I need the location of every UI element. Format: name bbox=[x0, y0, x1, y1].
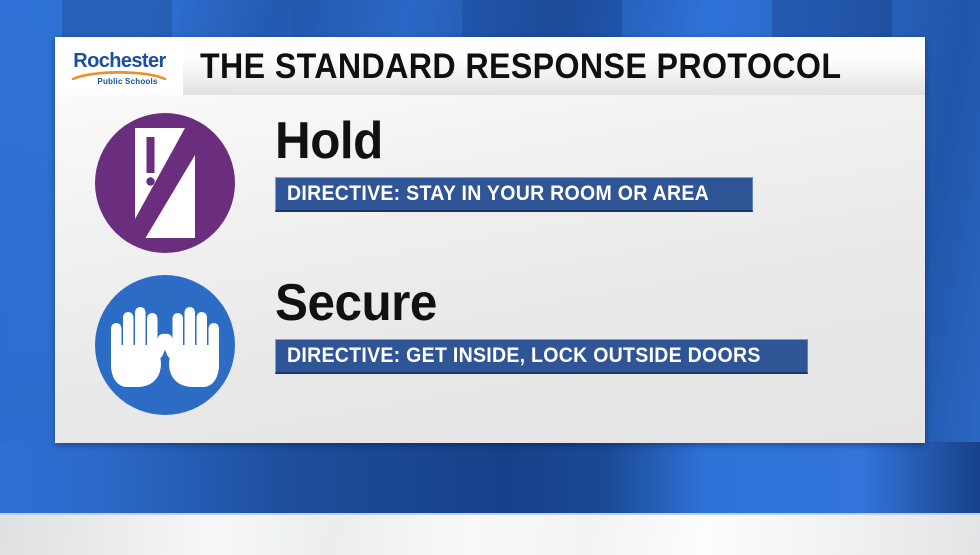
protocol-text-cell: Hold DIRECTIVE: STAY IN YOUR ROOM OR ARE… bbox=[275, 105, 753, 212]
directive-banner-secure: DIRECTIVE: GET INSIDE, LOCK OUTSIDE DOOR… bbox=[275, 339, 808, 374]
page-title: THE STANDARD RESPONSE PROTOCOL bbox=[200, 49, 841, 84]
protocol-icon-cell bbox=[55, 105, 275, 255]
header-title-container: THE STANDARD RESPONSE PROTOCOL bbox=[183, 37, 925, 95]
rochester-public-schools-logo: Rochester Public Schools bbox=[55, 37, 183, 95]
protocol-icon-cell bbox=[55, 267, 275, 417]
hold-door-exclamation-icon bbox=[93, 111, 237, 255]
background-bottom-light-strip bbox=[0, 513, 980, 555]
protocol-name-secure: Secure bbox=[275, 277, 782, 329]
panel-body: Hold DIRECTIVE: STAY IN YOUR ROOM OR ARE… bbox=[55, 95, 925, 443]
directive-banner-hold: DIRECTIVE: STAY IN YOUR ROOM OR AREA bbox=[275, 177, 753, 212]
broadcast-graphic-screen: Rochester Public Schools THE STANDARD RE… bbox=[0, 0, 980, 555]
protocol-text-cell: Secure DIRECTIVE: GET INSIDE, LOCK OUTSI… bbox=[275, 267, 808, 374]
directive-text-secure: DIRECTIVE: GET INSIDE, LOCK OUTSIDE DOOR… bbox=[287, 345, 761, 366]
protocol-row-hold: Hold DIRECTIVE: STAY IN YOUR ROOM OR ARE… bbox=[55, 105, 753, 255]
content-panel: Rochester Public Schools THE STANDARD RE… bbox=[55, 37, 925, 443]
background-lower-blue-band bbox=[0, 442, 980, 513]
protocol-name-hold: Hold bbox=[275, 115, 729, 167]
logo-wordmark: Rochester bbox=[73, 51, 165, 71]
protocol-row-secure: Secure DIRECTIVE: GET INSIDE, LOCK OUTSI… bbox=[55, 267, 808, 417]
secure-open-hands-icon bbox=[93, 273, 237, 417]
directive-text-hold: DIRECTIVE: STAY IN YOUR ROOM OR AREA bbox=[287, 183, 709, 204]
logo-subtitle: Public Schools bbox=[97, 78, 157, 86]
panel-header: Rochester Public Schools THE STANDARD RE… bbox=[55, 37, 925, 95]
